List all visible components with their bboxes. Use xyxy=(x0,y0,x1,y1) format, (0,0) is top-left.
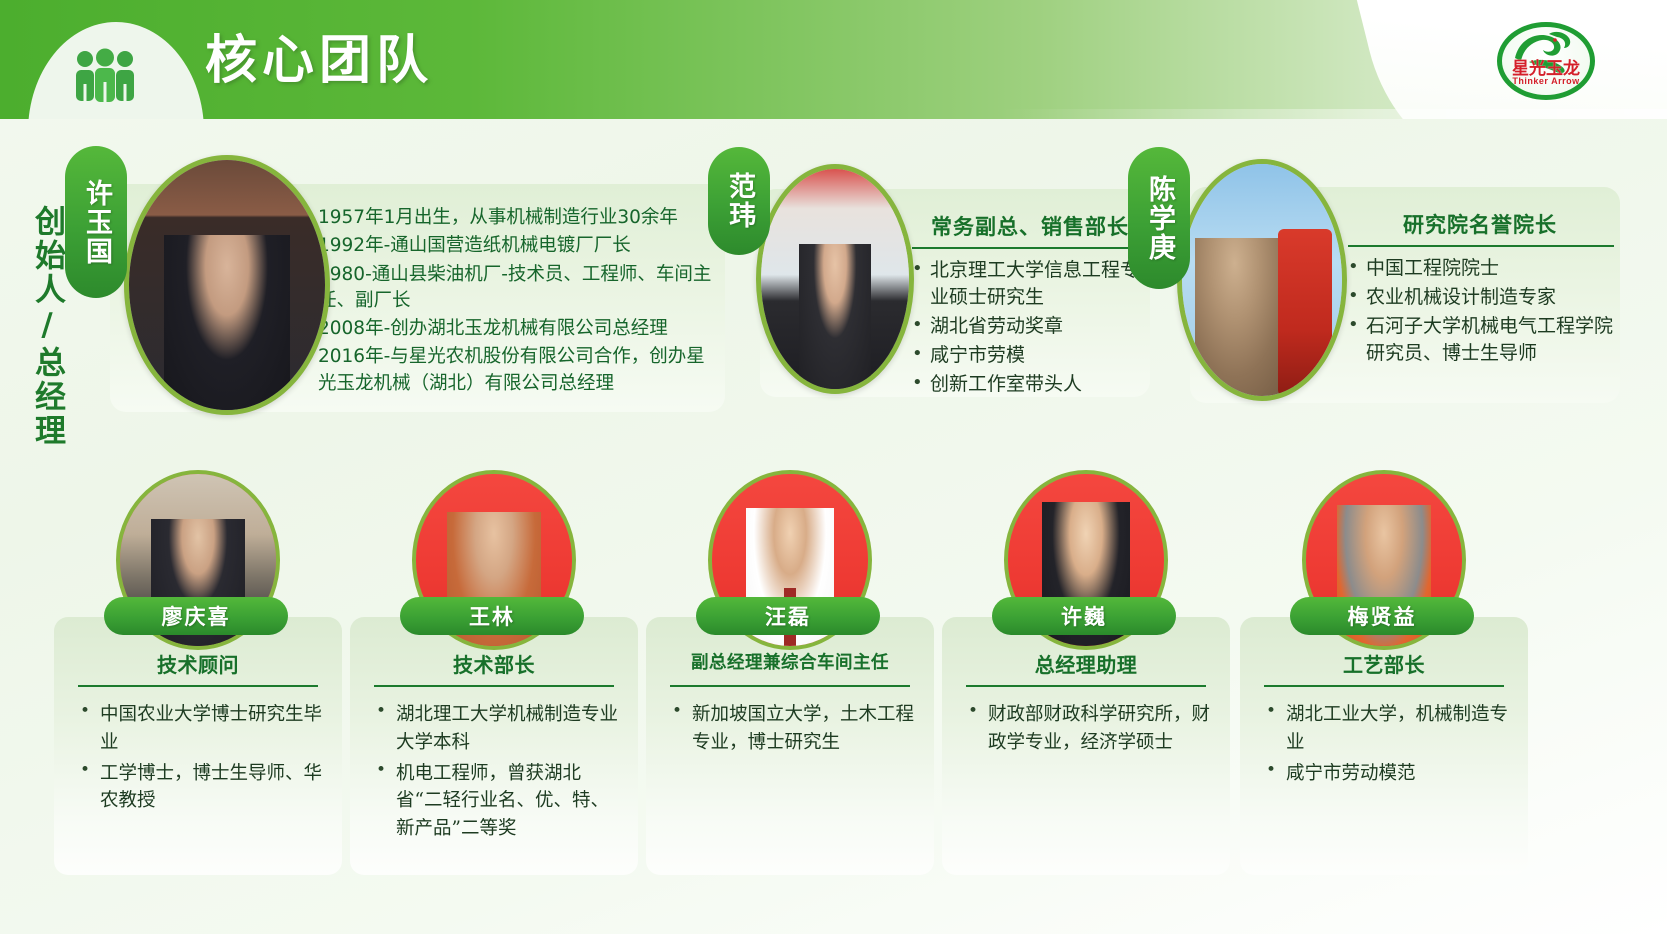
list-item: 新加坡国立大学，土木工程专业，博士研究生 xyxy=(666,701,920,757)
role-divider xyxy=(374,685,614,687)
people-group-icon xyxy=(72,48,138,102)
member-card-content: 工艺部长 湖北工业大学，机械制造专业 咸宁市劳动模范 xyxy=(1240,617,1528,875)
member-name-pill: 许玉国 xyxy=(65,146,127,298)
list-item: 农业机械设计制造专家 xyxy=(1344,284,1629,311)
list-item: 1992年-通山国营造纸机械电镀厂厂长 xyxy=(296,233,716,259)
list-item: 2016年-与星光农机股份有限公司合作，创办星光玉龙机械（湖北）有限公司总经理 xyxy=(296,344,716,397)
member-role: 副总经理兼综合车间主任 xyxy=(646,649,934,674)
member-role: 工艺部长 xyxy=(1240,649,1528,678)
member-card-content: 技术部长 湖北理工大学机械制造专业大学本科 机电工程师，曾获湖北省“二轻行业名、… xyxy=(350,617,638,875)
member-bullet-list: 湖北工业大学，机械制造专业 咸宁市劳动模范 xyxy=(1260,701,1514,790)
list-item: 1957年1月出生，从事机械制造行业30余年 xyxy=(296,205,716,231)
member-title: 常务副总、销售部长 xyxy=(905,211,1155,241)
list-item: 中国工程院院士 xyxy=(1344,255,1629,282)
role-divider xyxy=(670,685,910,687)
list-item: 机电工程师，曾获湖北省“二轻行业名、优、特、新产品”二等奖 xyxy=(370,760,624,843)
list-item: 中国农业大学博士研究生毕业 xyxy=(74,701,328,757)
role-divider xyxy=(78,685,318,687)
member-bullet-list: 新加坡国立大学，土木工程专业，博士研究生 xyxy=(666,701,920,760)
member-bullet-list: 财政部财政科学研究所，财政学专业，经济学硕士 xyxy=(962,701,1216,760)
bottom-member-card[interactable]: 王林 技术部长 湖北理工大学机械制造专业大学本科 机电工程师，曾获湖北省“二轻行… xyxy=(350,455,638,875)
page-header: 核心团队 xyxy=(0,0,1667,119)
list-item: 1980-通山县柴油机厂-技术员、工程师、车间主任、副厂长 xyxy=(296,262,716,315)
bottom-member-card[interactable]: 梅贤益 工艺部长 湖北工业大学，机械制造专业 咸宁市劳动模范 xyxy=(1240,455,1528,875)
bottom-member-card[interactable]: 汪磊 副总经理兼综合车间主任 新加坡国立大学，土木工程专业，博士研究生 xyxy=(646,455,934,875)
member-role: 总经理助理 xyxy=(942,649,1230,678)
member-card-content: 总经理助理 财政部财政科学研究所，财政学专业，经济学硕士 xyxy=(942,617,1230,875)
bottom-member-card[interactable]: 许巍 总经理助理 财政部财政科学研究所，财政学专业，经济学硕士 xyxy=(942,455,1230,875)
slide-root: 核心团队 星光玉龙 Thinker Arrow 创始人/总经理 许玉国 1957… xyxy=(0,0,1667,934)
member-card-content: 副总经理兼综合车间主任 新加坡国立大学，土木工程专业，博士研究生 xyxy=(646,617,934,875)
company-logo[interactable]: 星光玉龙 Thinker Arrow xyxy=(1497,22,1595,100)
member-name-badge: 梅贤益 xyxy=(1290,597,1474,635)
list-item: 北京理工大学信息工程专业硕士研究生 xyxy=(908,257,1156,311)
list-item: 工学博士，博士生导师、华农教授 xyxy=(74,760,328,816)
member-role: 技术顾问 xyxy=(54,649,342,678)
title-divider xyxy=(1348,245,1614,247)
list-item: 湖北工业大学，机械制造专业 xyxy=(1260,701,1514,757)
member-bullet-list: 中国工程院院士 农业机械设计制造专家 石河子大学机械电气工程学院研究员、博士生导… xyxy=(1344,255,1629,369)
list-item: 石河子大学机械电气工程学院研究员、博士生导师 xyxy=(1344,313,1629,367)
member-name-pill: 陈学庚 xyxy=(1128,147,1190,289)
member-card-content: 技术顾问 中国农业大学博士研究生毕业 工学博士，博士生导师、华农教授 xyxy=(54,617,342,875)
logo-english-name: Thinker Arrow xyxy=(1497,77,1595,86)
list-item: 2008年-创办湖北玉龙机械有限公司总经理 xyxy=(296,316,716,342)
list-item: 创新工作室带头人 xyxy=(908,371,1156,398)
bottom-members-row: 廖庆喜 技术顾问 中国农业大学博士研究生毕业 工学博士，博士生导师、华农教授 王… xyxy=(0,455,1667,934)
member-title: 研究院名誉院长 xyxy=(1340,209,1620,239)
member-name-badge: 汪磊 xyxy=(696,597,880,635)
member-name-badge: 廖庆喜 xyxy=(104,597,288,635)
top-members-row: 许玉国 1957年1月出生，从事机械制造行业30余年 1992年-通山国营造纸机… xyxy=(0,119,1667,449)
list-item: 咸宁市劳模 xyxy=(908,342,1156,369)
title-divider xyxy=(912,247,1150,249)
member-name-badge: 许巍 xyxy=(992,597,1176,635)
member-photo xyxy=(124,155,330,415)
page-title: 核心团队 xyxy=(205,18,433,93)
header-fade xyxy=(0,109,1667,119)
member-bullet-list: 北京理工大学信息工程专业硕士研究生 湖北省劳动奖章 咸宁市劳模 创新工作室带头人 xyxy=(908,257,1156,400)
member-bullet-list: 中国农业大学博士研究生毕业 工学博士，博士生导师、华农教授 xyxy=(74,701,328,818)
list-item: 财政部财政科学研究所，财政学专业，经济学硕士 xyxy=(962,701,1216,757)
member-bullet-list: 湖北理工大学机械制造专业大学本科 机电工程师，曾获湖北省“二轻行业名、优、特、新… xyxy=(370,701,624,846)
bottom-member-card[interactable]: 廖庆喜 技术顾问 中国农业大学博士研究生毕业 工学博士，博士生导师、华农教授 xyxy=(54,455,342,875)
member-name-pill: 范玮 xyxy=(708,147,770,255)
list-item: 湖北理工大学机械制造专业大学本科 xyxy=(370,701,624,757)
member-bullet-list: 1957年1月出生，从事机械制造行业30余年 1992年-通山国营造纸机械电镀厂… xyxy=(296,205,716,399)
role-divider xyxy=(966,685,1206,687)
member-photo xyxy=(1177,159,1347,401)
member-role: 技术部长 xyxy=(350,649,638,678)
role-divider xyxy=(1264,685,1504,687)
list-item: 咸宁市劳动模范 xyxy=(1260,760,1514,788)
member-name-badge: 王林 xyxy=(400,597,584,635)
member-photo xyxy=(756,164,914,394)
list-item: 湖北省劳动奖章 xyxy=(908,313,1156,340)
logo-chinese-name: 星光玉龙 xyxy=(1497,60,1595,77)
